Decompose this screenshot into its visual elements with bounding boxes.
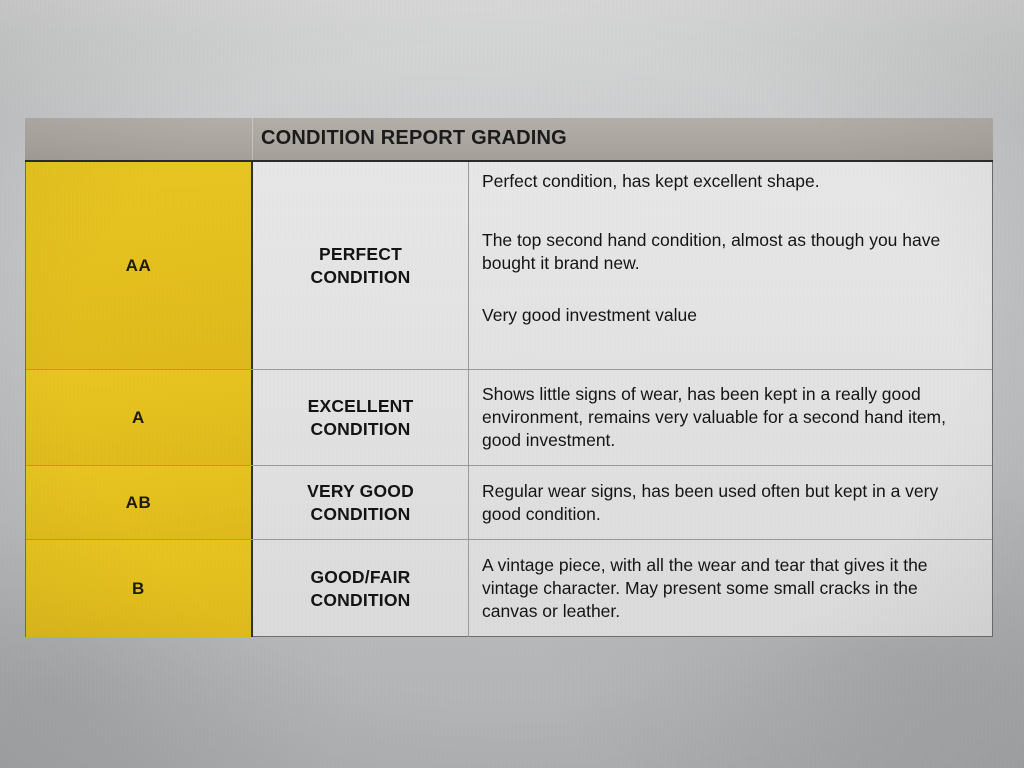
description-paragraph: Shows little signs of wear, has been kep… [482,383,976,451]
description-paragraph: Very good investment value [482,304,976,327]
description-paragraph: A vintage piece, with all the wear and t… [482,554,976,622]
description-cell-b: A vintage piece, with all the wear and t… [469,540,992,637]
table-body: AA PERFECT CONDITION Perfect condition, … [25,162,993,637]
description-paragraph: Perfect condition, has kept excellent sh… [482,170,976,193]
description-paragraph: The top second hand condition, almost as… [482,229,976,275]
table-row: AA PERFECT CONDITION Perfect condition, … [26,162,992,370]
description-cell-aa: Perfect condition, has kept excellent sh… [469,162,992,369]
page-title: CONDITION REPORT GRADING [261,127,567,150]
paper-background: CONDITION REPORT GRADING AA PERFECT COND… [0,0,1024,768]
table-header-bar: CONDITION REPORT GRADING [25,118,993,162]
condition-label-line2: CONDITION [310,504,410,524]
description-cell-ab: Regular wear signs, has been used often … [469,466,992,539]
condition-label: GOOD/FAIR CONDITION [311,566,411,611]
table-header-divider [252,118,253,160]
grade-label: AB [126,493,152,513]
condition-cell-aa: PERFECT CONDITION [253,162,469,369]
table-row: AB VERY GOOD CONDITION Regular wear sign… [26,466,992,540]
grade-cell-ab: AB [26,466,253,539]
condition-cell-b: GOOD/FAIR CONDITION [253,540,469,637]
condition-label-line2: CONDITION [311,267,411,287]
condition-label-line1: PERFECT [319,244,402,264]
grade-cell-a: A [26,370,253,465]
condition-label: VERY GOOD CONDITION [307,480,414,525]
table-row: A EXCELLENT CONDITION Shows little signs… [26,370,992,466]
condition-cell-ab: VERY GOOD CONDITION [253,466,469,539]
grade-label: A [132,408,145,428]
grade-cell-aa: AA [26,162,253,369]
table-row: B GOOD/FAIR CONDITION A vintage piece, w… [26,540,992,637]
condition-label: PERFECT CONDITION [311,243,411,288]
grade-label: AA [126,256,152,276]
grade-label: B [132,579,145,599]
condition-label-line1: VERY GOOD [307,481,414,501]
condition-label: EXCELLENT CONDITION [308,395,414,440]
condition-report-grading-table: CONDITION REPORT GRADING AA PERFECT COND… [25,118,993,637]
condition-label-line1: EXCELLENT [308,396,414,416]
condition-label-line2: CONDITION [311,590,411,610]
description-cell-a: Shows little signs of wear, has been kep… [469,370,992,465]
condition-label-line1: GOOD/FAIR [311,567,411,587]
condition-label-line2: CONDITION [311,419,411,439]
grade-cell-b: B [26,540,253,637]
description-paragraph: Regular wear signs, has been used often … [482,480,976,526]
condition-cell-a: EXCELLENT CONDITION [253,370,469,465]
